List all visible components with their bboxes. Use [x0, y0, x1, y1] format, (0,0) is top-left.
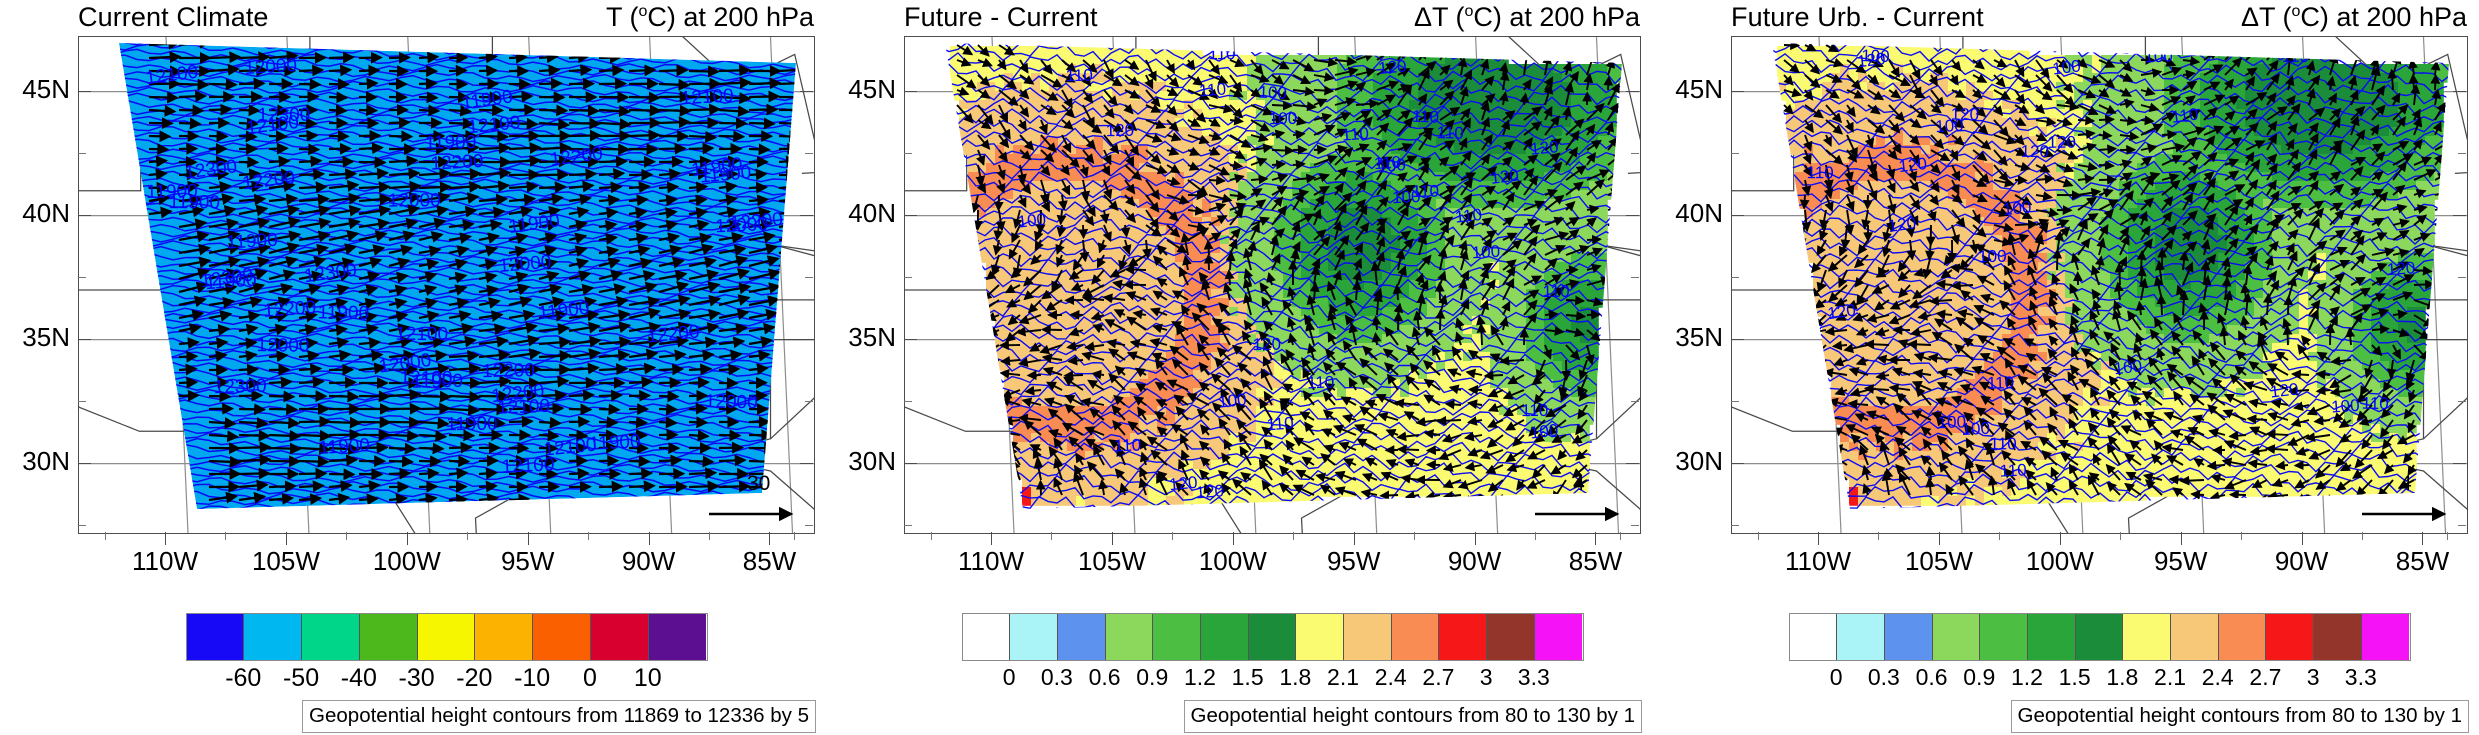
map-canvas: 1101001201001001101101201001001201101101…	[1732, 37, 2467, 533]
x-tick-95W	[528, 532, 529, 545]
y-tick-45N	[904, 91, 917, 92]
contour-label: 110	[1990, 434, 2017, 453]
contour-label: 12000	[244, 55, 298, 79]
colorbar-swatch-12	[1535, 614, 1583, 660]
y-tick-right-40N	[2453, 215, 2466, 216]
colorbar-swatch-0	[187, 614, 245, 660]
contour-label: 100	[1961, 419, 1990, 439]
contour-label: 100	[1978, 247, 2007, 267]
y-tick-minor	[2458, 153, 2466, 154]
panel-title-left-current-climate: Current Climate	[78, 2, 269, 33]
caption-future-minus-current: Geopotential height contours from 80 to …	[1184, 700, 1642, 733]
colorbar-swatch-3	[1933, 614, 1981, 660]
contour-label: 110	[1999, 460, 2027, 480]
contour-label: 120	[1529, 137, 1559, 159]
contour-label: 120	[1252, 335, 1281, 354]
contour-label: 120	[1856, 49, 1886, 71]
x-axis-label-110W: 110W	[1763, 546, 1873, 577]
contour-label: 110	[2282, 47, 2309, 66]
x-axis-label-95W: 95W	[2126, 546, 2236, 577]
y-tick-40N	[78, 215, 91, 216]
contour-label: 12000	[256, 335, 309, 357]
colorbar-tick-label-7: 10	[603, 664, 693, 693]
contour-label: 12300	[214, 376, 267, 398]
y-axis-label-40N: 40N	[1649, 198, 1723, 229]
colorbar-swatch-2	[302, 614, 360, 660]
reference-vector-current-climate: 30	[695, 474, 803, 526]
contour-label: 120	[1898, 154, 1928, 176]
contour-label: 120	[2047, 133, 2076, 152]
x-tick-minor	[1293, 532, 1294, 540]
x-axis-label-90W: 90W	[1420, 546, 1530, 577]
x-tick-90W	[649, 532, 650, 545]
x-axis-label-90W: 90W	[594, 546, 704, 577]
colorbar-swatch-5	[475, 614, 533, 660]
x-axis-label-110W: 110W	[110, 546, 220, 577]
x-tick-minor	[2447, 532, 2448, 540]
y-axis-label-45N: 45N	[822, 74, 896, 105]
contour-label: 110	[1412, 107, 1440, 127]
x-tick-minor	[931, 532, 932, 540]
contour-label: 100	[1217, 390, 1247, 412]
x-axis-label-110W: 110W	[936, 546, 1046, 577]
colorbar-swatch-3	[1106, 614, 1154, 660]
colorbar-tick-label-11: 3.3	[2316, 664, 2406, 691]
x-tick-minor	[794, 532, 795, 540]
colorbar-swatch-4	[1153, 614, 1201, 660]
plot-area-current-climate: 1190012000122001210012000119001210012300…	[78, 36, 815, 534]
y-tick-45N	[78, 91, 91, 92]
colorbar-swatch-1	[1837, 614, 1885, 660]
x-axis-label-105W: 105W	[1884, 546, 1994, 577]
x-tick-100W	[407, 532, 408, 545]
y-tick-minor	[78, 525, 86, 526]
contour-label: 110	[2170, 104, 2199, 126]
y-axis-label-35N: 35N	[1649, 322, 1723, 353]
x-axis-label-85W: 85W	[1540, 546, 1650, 577]
contour-label: 12000	[705, 391, 758, 413]
x-tick-minor	[588, 532, 589, 540]
x-axis-label-95W: 95W	[1299, 546, 1409, 577]
y-tick-45N	[1731, 91, 1744, 92]
colorbar-swatch-9	[1392, 614, 1440, 660]
contour-label: 100	[1471, 242, 1500, 263]
y-tick-right-45N	[1626, 91, 1639, 92]
x-tick-85W	[1595, 532, 1596, 545]
x-tick-minor	[2120, 532, 2121, 540]
y-axis-label-40N: 40N	[822, 198, 896, 229]
colorbar-swatch-6	[533, 614, 591, 660]
y-tick-minor	[805, 153, 813, 154]
y-tick-right-30N	[800, 463, 813, 464]
y-tick-minor	[1731, 525, 1739, 526]
y-tick-30N	[78, 463, 91, 464]
y-tick-35N	[78, 339, 91, 340]
contour-label: 100	[1258, 83, 1287, 103]
panel-title-right-future-urban-minus-current: ΔT (oC) at 200 hPa	[2241, 2, 2467, 33]
y-tick-minor	[1631, 525, 1639, 526]
x-tick-minor	[2241, 532, 2242, 540]
contour-label: 120	[2021, 142, 2050, 161]
y-tick-minor	[904, 525, 912, 526]
x-axis-label-100W: 100W	[352, 546, 462, 577]
reference-vector-label: 4	[1573, 472, 1585, 496]
reference-vector-future-urban-minus-current: 4	[2348, 474, 2456, 526]
panel-title-right-current-climate: T (oC) at 200 hPa	[606, 2, 814, 33]
degree-symbol: o	[1464, 3, 1473, 20]
x-tick-minor	[225, 532, 226, 540]
contour-label: 100	[1529, 420, 1559, 442]
y-tick-35N	[904, 339, 917, 340]
x-tick-minor	[467, 532, 468, 540]
contour-label: 12200	[482, 360, 535, 382]
x-tick-90W	[2302, 532, 2303, 545]
x-tick-minor	[1620, 532, 1621, 540]
contour-label: 120	[2269, 380, 2299, 402]
contour-label: 110	[1266, 413, 1295, 434]
map-canvas: 1201001101201101201101101001101201201001…	[905, 37, 1640, 533]
contour-label: 12200	[430, 151, 484, 175]
y-tick-minor	[2458, 401, 2466, 402]
x-axis-label-85W: 85W	[714, 546, 824, 577]
y-tick-right-40N	[1626, 215, 1639, 216]
contour-label: 120	[2386, 258, 2416, 279]
contour-label: 120	[1195, 481, 1225, 502]
y-axis-label-40N: 40N	[0, 198, 70, 229]
x-axis-label-95W: 95W	[473, 546, 583, 577]
x-tick-110W	[1818, 532, 1819, 545]
colorbar-swatch-9	[2219, 614, 2267, 660]
contour-label: 11900	[318, 435, 371, 459]
x-axis-label-105W: 105W	[231, 546, 341, 577]
x-tick-100W	[1233, 532, 1234, 545]
colorbar-swatch-5	[1201, 614, 1249, 660]
y-tick-minor	[78, 153, 86, 154]
contour-label: 120	[1106, 121, 1135, 141]
x-tick-105W	[286, 532, 287, 545]
y-tick-right-35N	[800, 339, 813, 340]
y-axis-label-30N: 30N	[822, 446, 896, 477]
contour-label: 110	[1542, 282, 1569, 301]
colorbar-swatch-8	[1344, 614, 1392, 660]
y-tick-right-35N	[1626, 339, 1639, 340]
y-axis-label-35N: 35N	[822, 322, 896, 353]
degree-symbol: o	[2291, 3, 2300, 20]
x-tick-85W	[769, 532, 770, 545]
colorbar-swatch-11	[1487, 614, 1535, 660]
contour-label: 120	[1168, 473, 1198, 494]
colorbar-swatch-7	[591, 614, 649, 660]
colorbar-swatch-10	[1439, 614, 1487, 660]
x-tick-minor	[105, 532, 106, 540]
x-tick-110W	[991, 532, 992, 545]
contour-label: 100	[1017, 210, 1047, 232]
x-tick-95W	[1354, 532, 1355, 545]
x-tick-minor	[1051, 532, 1052, 540]
y-tick-minor	[1631, 153, 1639, 154]
x-axis-label-100W: 100W	[1178, 546, 1288, 577]
y-tick-minor	[1731, 277, 1739, 278]
contour-label: 110	[1208, 44, 1235, 63]
x-tick-minor	[2362, 532, 2363, 540]
contour-label: 100	[2051, 56, 2081, 78]
caption-current-climate: Geopotential height contours from 11869 …	[302, 700, 816, 733]
x-tick-85W	[2422, 532, 2423, 545]
panel-title-left-future-minus-current: Future - Current	[904, 2, 1098, 33]
colorbar-swatch-7	[2123, 614, 2171, 660]
x-tick-100W	[2060, 532, 2061, 545]
x-tick-minor	[1414, 532, 1415, 540]
y-tick-minor	[1731, 153, 1739, 154]
colorbar-swatch-3	[360, 614, 418, 660]
colorbar-swatch-11	[2314, 614, 2362, 660]
contour-label: 110	[1307, 372, 1335, 392]
colorbar-swatch-4	[418, 614, 476, 660]
y-tick-minor	[1631, 277, 1639, 278]
x-tick-minor	[1999, 532, 2000, 540]
x-tick-minor	[1878, 532, 1879, 540]
x-tick-105W	[1112, 532, 1113, 545]
contour-label: 110	[1065, 66, 1093, 86]
contour-label: 110	[1806, 163, 1833, 182]
caption-future-urban-minus-current: Geopotential height contours from 80 to …	[2011, 700, 2469, 733]
x-tick-95W	[2181, 532, 2182, 545]
contour-label: 120	[1489, 166, 1519, 188]
colorbar-future-urban-minus-current	[1789, 613, 2411, 661]
x-tick-90W	[1475, 532, 1476, 545]
contour-label: 110	[1987, 373, 2015, 393]
panel-future-minus-current: Future - CurrentΔT (oC) at 200 hPa120100…	[826, 0, 1652, 735]
y-tick-40N	[1731, 215, 1744, 216]
y-tick-right-35N	[2453, 339, 2466, 340]
contour-label: 100	[2331, 396, 2361, 417]
y-tick-40N	[904, 215, 917, 216]
contour-label: 110	[1412, 182, 1439, 201]
panel-title-right-future-minus-current: ΔT (oC) at 200 hPa	[1414, 2, 1640, 33]
colorbar-swatch-10	[2266, 614, 2314, 660]
contour-label: 11900	[226, 230, 279, 254]
colorbar-current-climate	[186, 613, 708, 661]
colorbar-swatch-2	[1885, 614, 1933, 660]
y-tick-30N	[1731, 463, 1744, 464]
colorbar-swatch-8	[649, 614, 707, 660]
contour-label: 11900	[699, 162, 752, 187]
x-axis-label-100W: 100W	[2005, 546, 2115, 577]
x-tick-minor	[1172, 532, 1173, 540]
y-axis-label-45N: 45N	[1649, 74, 1723, 105]
y-tick-minor	[78, 401, 86, 402]
contour-label: 11900	[425, 132, 477, 154]
colorbar-swatch-5	[2028, 614, 2076, 660]
x-tick-105W	[1939, 532, 1940, 545]
x-axis-label-105W: 105W	[1057, 546, 1167, 577]
y-tick-minor	[1631, 401, 1639, 402]
y-tick-35N	[1731, 339, 1744, 340]
contour-label: 12100	[497, 396, 551, 419]
contour-label: 100	[1269, 109, 1298, 128]
y-axis-label-30N: 30N	[1649, 446, 1723, 477]
y-tick-minor	[78, 277, 86, 278]
contour-label: 11900	[168, 192, 220, 213]
colorbar-swatch-1	[244, 614, 302, 660]
colorbar-swatch-1	[1010, 614, 1058, 660]
colorbar-swatch-4	[1980, 614, 2028, 660]
y-tick-minor	[1731, 401, 1739, 402]
contour-label: 110	[1373, 152, 1401, 173]
y-tick-right-40N	[800, 215, 813, 216]
plot-area-future-minus-current: 1201001101201101201101101001101201201001…	[904, 36, 1641, 534]
colorbar-swatch-0	[1790, 614, 1838, 660]
colorbar-swatch-8	[2171, 614, 2219, 660]
degree-symbol: o	[638, 3, 647, 20]
y-tick-right-45N	[800, 91, 813, 92]
contour-label: 100	[2113, 356, 2143, 378]
y-tick-minor	[2458, 525, 2466, 526]
contour-label: 12000	[388, 190, 441, 211]
y-axis-label-30N: 30N	[0, 446, 70, 477]
y-tick-minor	[805, 401, 813, 402]
reference-vector-future-minus-current: 4	[1521, 474, 1629, 526]
y-tick-minor	[904, 153, 912, 154]
contour-label: 110	[2361, 394, 2389, 414]
contour-label: 110	[1454, 205, 1483, 227]
reference-vector-label: 4	[2400, 472, 2412, 496]
y-axis-label-35N: 35N	[0, 322, 70, 353]
colorbar-swatch-6	[1249, 614, 1297, 660]
contour-label: 12200	[263, 297, 317, 322]
figure-canvas: Current ClimateT (oC) at 200 hPa11900120…	[0, 0, 2479, 735]
contour-label: 12000	[498, 252, 552, 277]
x-tick-110W	[165, 532, 166, 545]
contour-label: 100	[2144, 46, 2173, 66]
contour-label: 12100	[680, 85, 734, 109]
x-tick-minor	[346, 532, 347, 540]
contour-label: 120	[1377, 57, 1407, 78]
colorbar-swatch-2	[1058, 614, 1106, 660]
colorbar-swatch-0	[963, 614, 1011, 660]
map-canvas: 1190012000122001210012000119001210012300…	[79, 37, 814, 533]
colorbar-tick-label-11: 3.3	[1489, 664, 1579, 691]
panel-future-urban-minus-current: Future Urb. - CurrentΔT (oC) at 200 hPa1…	[1653, 0, 2479, 735]
y-tick-minor	[2458, 277, 2466, 278]
y-tick-minor	[904, 277, 912, 278]
plot-area-future-urban-minus-current: 1101001201001001101101201001001201101101…	[1731, 36, 2468, 534]
contour-label: 11900	[411, 371, 463, 393]
contour-label: 12100	[395, 324, 448, 345]
contour-label: 11900	[318, 302, 370, 324]
reference-vector-label: 30	[747, 472, 770, 496]
y-tick-right-30N	[1626, 463, 1639, 464]
contour-label: 110	[1341, 124, 1370, 145]
y-tick-right-45N	[2453, 91, 2466, 92]
y-axis-label-45N: 45N	[0, 74, 70, 105]
contour-label: 110	[1521, 401, 1548, 420]
contour-label: 110	[1436, 123, 1464, 143]
y-tick-minor	[805, 277, 813, 278]
colorbar-swatch-6	[2076, 614, 2124, 660]
panel-current-climate: Current ClimateT (oC) at 200 hPa11900120…	[0, 0, 826, 735]
y-tick-minor	[805, 525, 813, 526]
x-axis-label-90W: 90W	[2247, 546, 2357, 577]
colorbar-swatch-12	[2362, 614, 2410, 660]
x-tick-minor	[1758, 532, 1759, 540]
y-tick-right-30N	[2453, 463, 2466, 464]
colorbar-future-minus-current	[962, 613, 1584, 661]
contour-label: 11900	[446, 414, 498, 436]
contour-label: 120	[1826, 300, 1857, 323]
y-tick-minor	[904, 401, 912, 402]
contour-label: 110	[1198, 79, 1227, 100]
x-axis-label-85W: 85W	[2367, 546, 2477, 577]
contour-label: 120	[1951, 105, 1980, 124]
x-tick-minor	[1535, 532, 1536, 540]
contour-label: 110	[1114, 435, 1142, 455]
y-tick-30N	[904, 463, 917, 464]
contour-label: 120	[1887, 213, 1918, 236]
contour-label: 100	[2002, 197, 2032, 219]
colorbar-swatch-7	[1296, 614, 1344, 660]
panel-title-left-future-urban-minus-current: Future Urb. - Current	[1731, 2, 1984, 33]
x-tick-minor	[709, 532, 710, 540]
